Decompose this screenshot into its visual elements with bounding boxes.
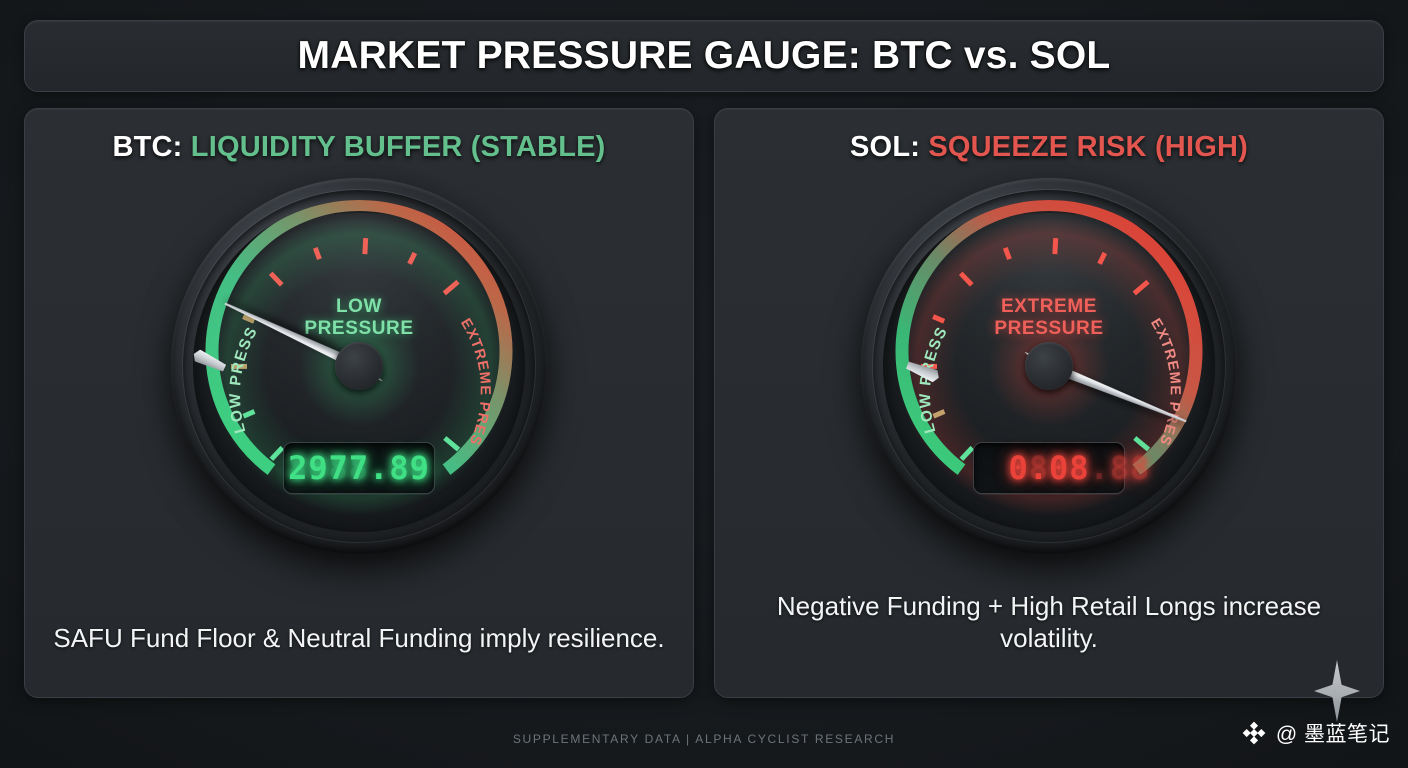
panel-btc[interactable]: BTC: LIQUIDITY BUFFER (STABLE) — [24, 108, 694, 698]
gauge-sol-lcd-value: 8888.88 0.08 — [1008, 449, 1089, 487]
panel-btc-ticker: BTC: — [112, 131, 182, 163]
gauge-btc-lcd-value: 8888.88 2977.89 — [288, 449, 430, 487]
panel-btc-caption: SAFU Fund Floor & Neutral Funding imply … — [25, 622, 693, 655]
gauge-btc[interactable]: LOW PRESSURE EXTREME PRESSURE LOW PRESSU… — [171, 178, 547, 554]
panel-sol-heading: SOL: SQUEEZE RISK (HIGH) — [850, 131, 1248, 164]
panel-sol-ticker: SOL: — [850, 131, 920, 163]
gauge-sol-lcd: 8888.88 0.08 — [973, 442, 1125, 494]
gauge-btc-lcd: 8888.88 2977.89 — [283, 442, 435, 494]
watermark: @ 墨蓝笔记 — [1241, 718, 1390, 748]
binance-diamond-icon — [1241, 720, 1267, 746]
footer-credit: SUPPLEMENTARY DATA | ALPHA CYCLIST RESEA… — [0, 732, 1408, 746]
watermark-handle: @ 墨蓝笔记 — [1276, 718, 1390, 748]
gauge-sol[interactable]: LOW PRESSURE EXTREME PRESSURE EXTREME PR… — [861, 178, 1237, 554]
page-title-bar: MARKET PRESSURE GAUGE: BTC vs. SOL — [24, 20, 1384, 92]
gauge-sol-face: LOW PRESSURE EXTREME PRESSURE EXTREME PR… — [883, 200, 1215, 532]
panel-btc-heading: BTC: LIQUIDITY BUFFER (STABLE) — [112, 131, 605, 164]
gauge-sol-lcd-digits: 0.08 — [1008, 449, 1089, 487]
gauge-btc-hub — [335, 342, 383, 390]
gauge-sol-hub — [1025, 342, 1073, 390]
panel-btc-status: LIQUIDITY BUFFER (STABLE) — [191, 131, 606, 163]
gauge-panels-row: BTC: LIQUIDITY BUFFER (STABLE) — [24, 108, 1384, 698]
panel-sol[interactable]: SOL: SQUEEZE RISK (HIGH) — [714, 108, 1384, 698]
gauge-btc-face: LOW PRESSURE EXTREME PRESSURE LOW PRESSU… — [193, 200, 525, 532]
page-root: MARKET PRESSURE GAUGE: BTC vs. SOL BTC: … — [0, 0, 1408, 768]
panel-sol-status: SQUEEZE RISK (HIGH) — [928, 131, 1248, 163]
panel-sol-caption: Negative Funding + High Retail Longs inc… — [715, 590, 1383, 656]
page-title: MARKET PRESSURE GAUGE: BTC vs. SOL — [298, 34, 1111, 78]
gauge-btc-lcd-digits: 2977.89 — [288, 449, 430, 487]
